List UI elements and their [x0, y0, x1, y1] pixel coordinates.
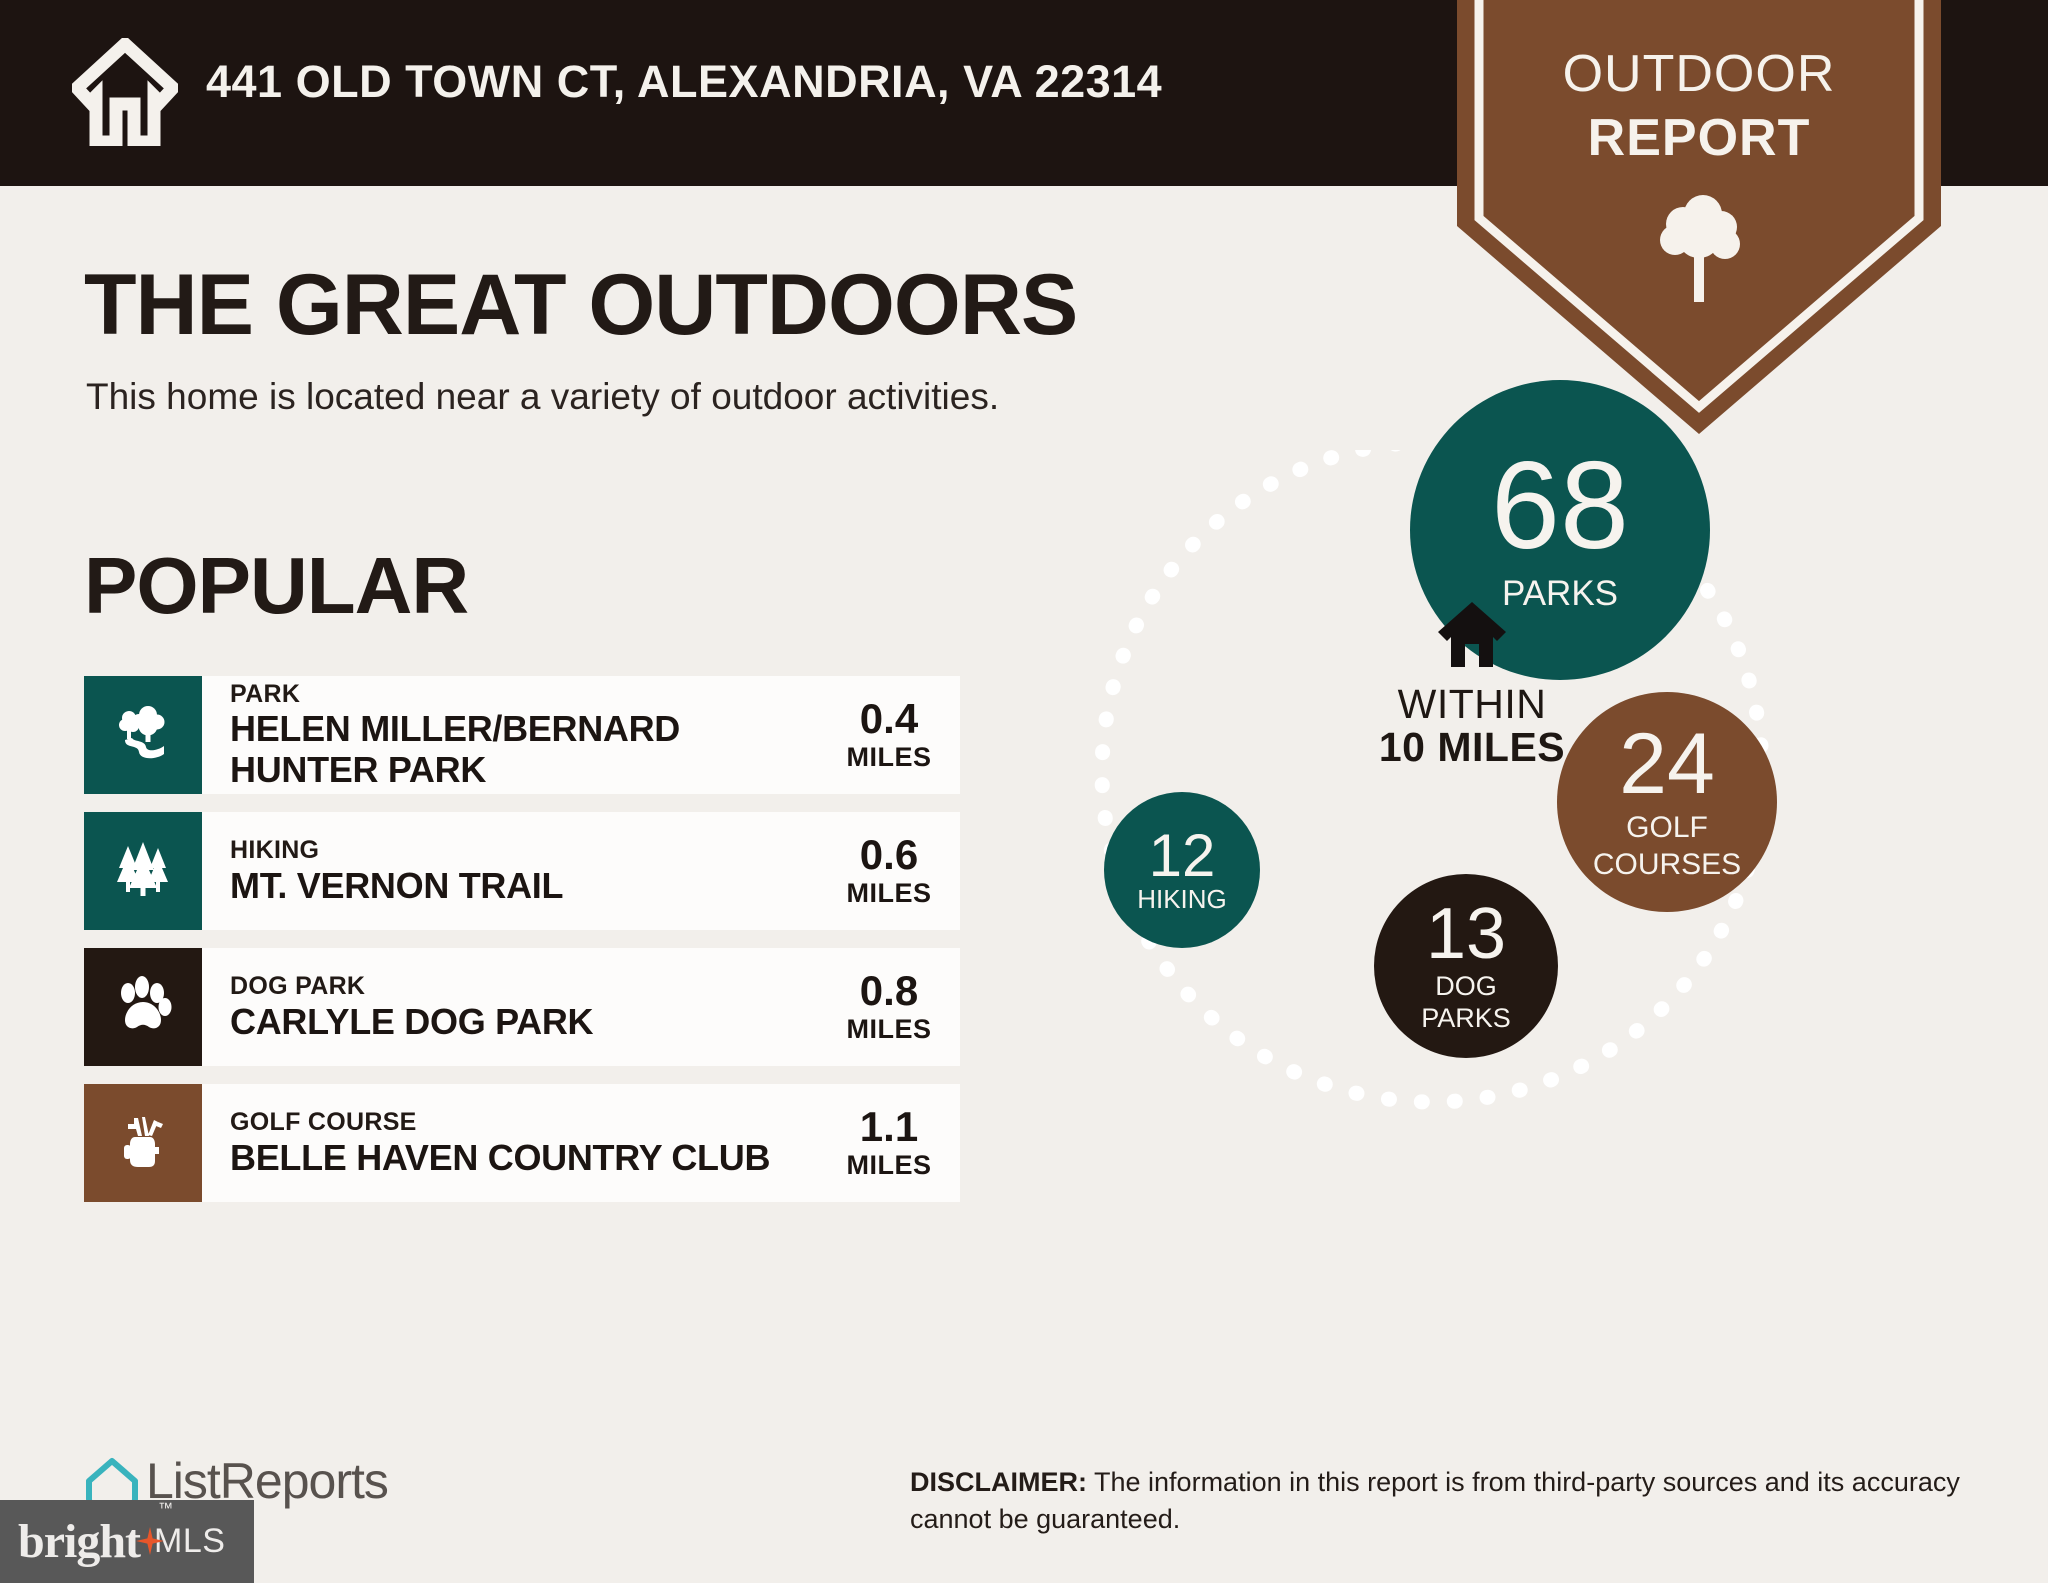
outdoor-report-page: 441 OLD TOWN CT, ALEXANDRIA, VA 22314 OU… — [0, 0, 2048, 1583]
amenity-name: HELEN MILLER/BERNARD HUNTER PARK — [230, 709, 828, 790]
brightmls-badge: bright ™ MLS — [0, 1500, 254, 1583]
amenity-icon-tile — [84, 676, 202, 794]
amenity-count-diagram: 68 PARKS 24 GOLF COURSES 13 DOG PARKS 12… — [1080, 450, 1900, 1330]
list-item[interactable]: HIKING MT. VERNON TRAIL 0.6 MILES — [84, 812, 960, 930]
amenity-text: DOG PARK CARLYLE DOG PARK — [202, 948, 828, 1066]
distance-value: 0.8 — [860, 969, 918, 1013]
amenity-text: HIKING MT. VERNON TRAIL — [202, 812, 828, 930]
amenity-distance: 0.8 MILES — [828, 948, 960, 1066]
home-icon — [72, 38, 178, 146]
bubble-label-line-1: DOG — [1435, 972, 1497, 1000]
disclaimer-label: DISCLAIMER: — [910, 1467, 1087, 1497]
bubble-label-line-2: PARKS — [1421, 1004, 1511, 1032]
amenity-category: HIKING — [230, 836, 828, 866]
diagram-center-group: WITHIN 10 MILES — [1352, 600, 1592, 769]
amenity-category: PARK — [230, 680, 828, 710]
bubble-count: 13 — [1426, 900, 1506, 968]
amenity-icon-tile — [84, 812, 202, 930]
amenity-distance: 1.1 MILES — [828, 1084, 960, 1202]
amenity-name: CARLYLE DOG PARK — [230, 1002, 828, 1042]
paw-print-icon — [112, 974, 174, 1041]
page-subtitle: This home is located near a variety of o… — [86, 376, 999, 418]
amenity-icon-tile — [84, 1084, 202, 1202]
home-icon — [1435, 657, 1509, 674]
bubble-label-line-1: GOLF — [1626, 812, 1708, 843]
within-label: WITHIN — [1352, 683, 1592, 726]
trademark-symbol: ™ — [158, 1500, 172, 1517]
bubble-count: 12 — [1149, 827, 1216, 884]
amenity-text: GOLF COURSE BELLE HAVEN COUNTRY CLUB — [202, 1084, 828, 1202]
distance-value: 0.4 — [860, 697, 918, 741]
stat-bubble-hiking[interactable]: 12 HIKING — [1104, 792, 1260, 948]
distance-unit: MILES — [846, 1014, 931, 1045]
amenity-icon-tile — [84, 948, 202, 1066]
distance-unit: MILES — [846, 742, 931, 773]
amenity-name: BELLE HAVEN COUNTRY CLUB — [230, 1138, 828, 1178]
amenity-category: GOLF COURSE — [230, 1108, 828, 1138]
brightmls-bright-text: bright — [18, 1515, 140, 1568]
property-address: 441 OLD TOWN CT, ALEXANDRIA, VA 22314 — [206, 56, 1162, 108]
distance-unit: MILES — [846, 878, 931, 909]
golf-bag-icon — [112, 1110, 174, 1177]
brightmls-wordmark: bright ™ — [18, 1514, 140, 1569]
page-title: THE GREAT OUTDOORS — [84, 256, 1077, 355]
amenity-text: PARK HELEN MILLER/BERNARD HUNTER PARK — [202, 676, 828, 794]
pine-trees-icon — [112, 838, 174, 905]
outdoor-report-badge: OUTDOOR REPORT — [1457, 0, 1941, 434]
distance-value: 0.6 — [860, 833, 918, 877]
distance-value: 1.1 — [860, 1105, 918, 1149]
bubble-label: HIKING — [1137, 886, 1227, 913]
amenity-name: MT. VERNON TRAIL — [230, 866, 828, 906]
badge-line-2: REPORT — [1457, 108, 1941, 168]
popular-amenities-list: PARK HELEN MILLER/BERNARD HUNTER PARK 0.… — [84, 676, 960, 1220]
list-item[interactable]: PARK HELEN MILLER/BERNARD HUNTER PARK 0.… — [84, 676, 960, 794]
bubble-count: 24 — [1619, 724, 1715, 806]
tree-icon — [1653, 194, 1745, 304]
bubble-label-line-2: COURSES — [1593, 849, 1741, 880]
disclaimer: DISCLAIMER: The information in this repo… — [910, 1464, 1970, 1539]
bubble-count: 68 — [1491, 448, 1629, 566]
distance-unit: MILES — [846, 1150, 931, 1181]
amenity-distance: 0.6 MILES — [828, 812, 960, 930]
stat-bubble-dog-parks[interactable]: 13 DOG PARKS — [1374, 874, 1558, 1058]
badge-line-1: OUTDOOR — [1457, 44, 1941, 104]
list-item[interactable]: GOLF COURSE BELLE HAVEN COUNTRY CLUB 1.1… — [84, 1084, 960, 1202]
list-item[interactable]: DOG PARK CARLYLE DOG PARK 0.8 MILES — [84, 948, 960, 1066]
amenity-distance: 0.4 MILES — [828, 676, 960, 794]
park-tree-path-icon — [112, 702, 174, 769]
section-title-popular: POPULAR — [84, 540, 468, 632]
amenity-category: DOG PARK — [230, 972, 828, 1002]
brightmls-mls-text: MLS — [154, 1522, 225, 1561]
radius-label: 10 MILES — [1352, 726, 1592, 769]
